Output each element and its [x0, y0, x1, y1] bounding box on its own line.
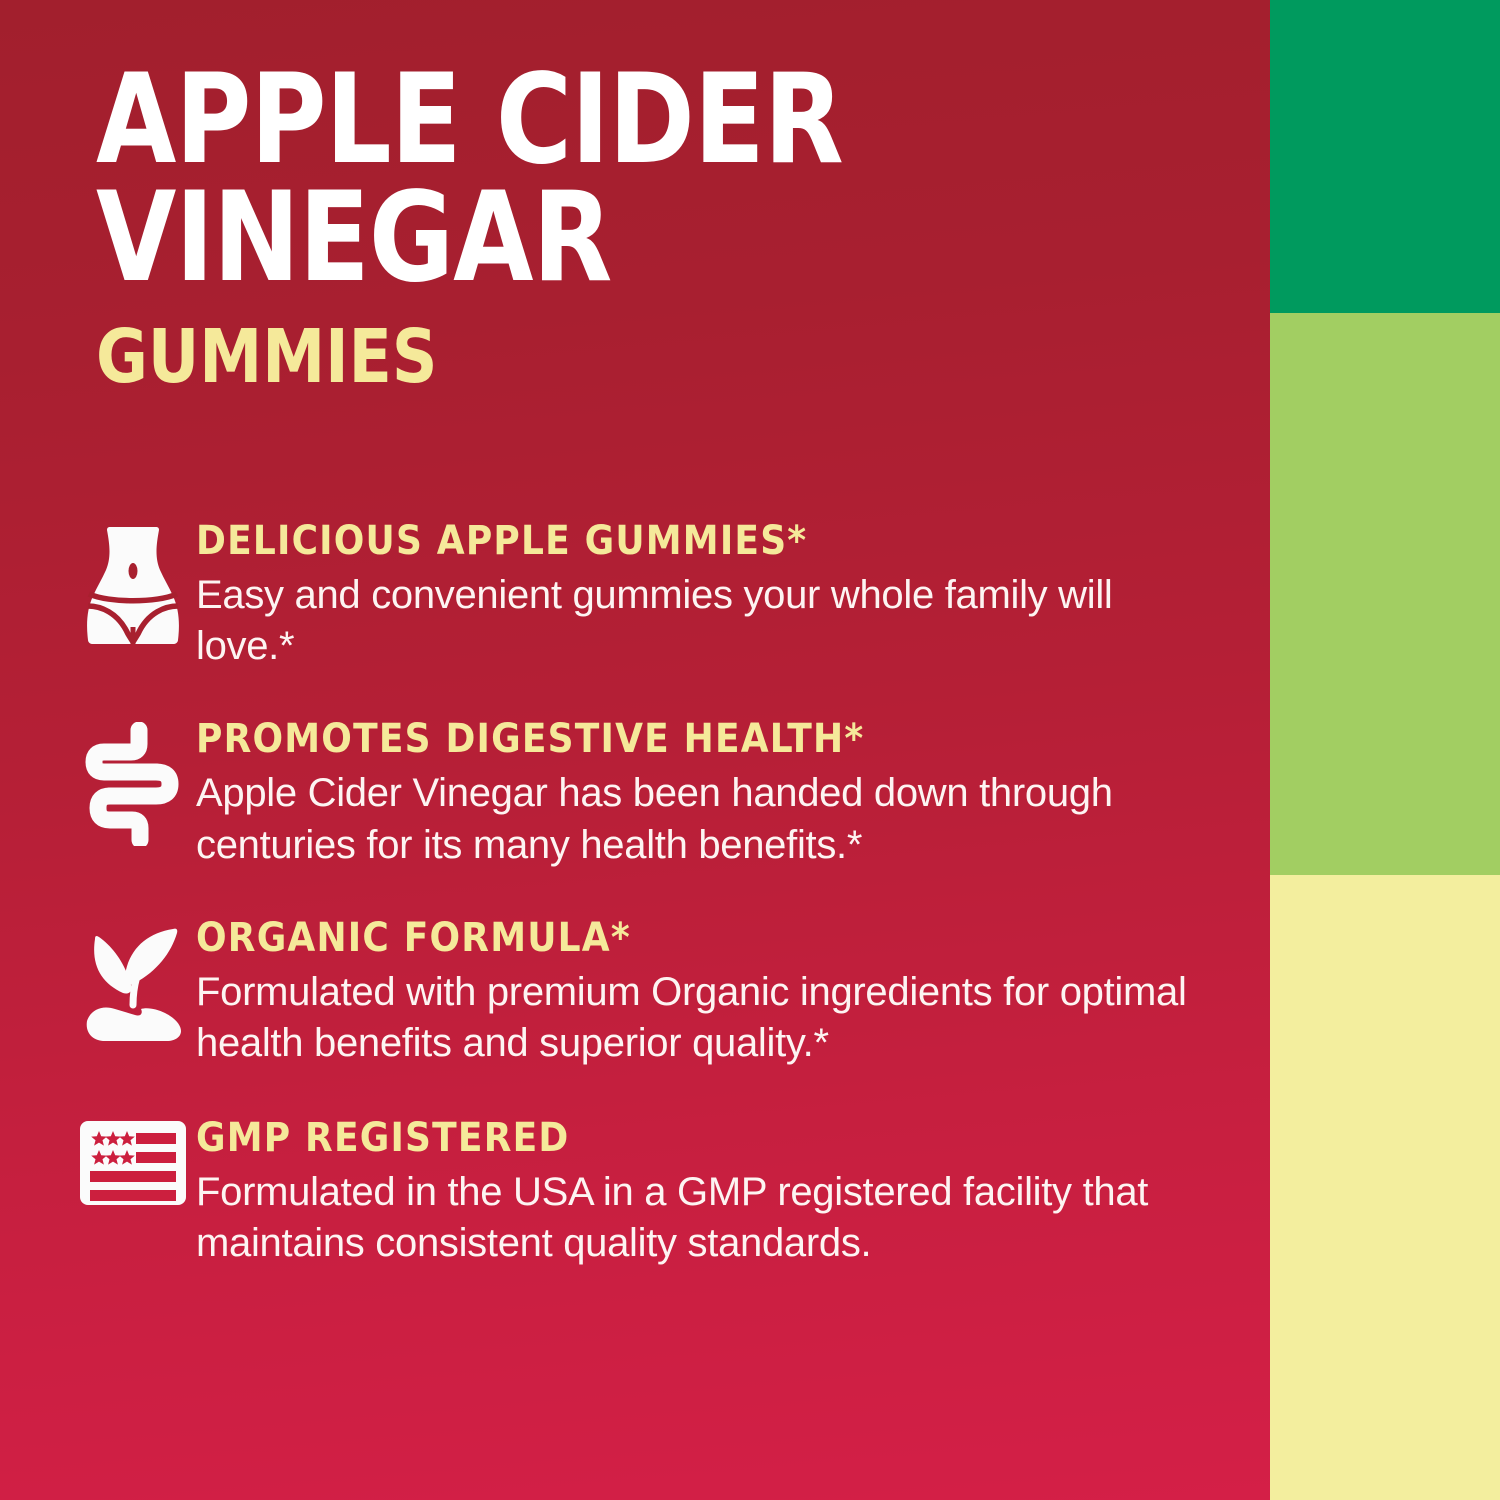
product-subtitle: GUMMIES	[96, 320, 1141, 394]
cream-band	[1270, 875, 1500, 1500]
feature-title: GMP REGISTERED	[196, 1117, 1238, 1159]
product-infographic: APPLE CIDER VINEGAR GUMMIES DELICIOUS AP…	[0, 0, 1500, 1500]
feature-item: PROMOTES DIGESTIVE HEALTH* Apple Cider V…	[78, 718, 1238, 870]
feature-title: DELICIOUS APPLE GUMMIES*	[196, 520, 1238, 562]
green-band	[1270, 0, 1500, 313]
feature-title: ORGANIC FORMULA*	[196, 917, 1238, 959]
product-title-line-2: VINEGAR	[96, 180, 1119, 298]
feature-list: DELICIOUS APPLE GUMMIES* Easy and conven…	[78, 520, 1238, 1270]
feature-text: Formulated in the USA in a GMP registere…	[196, 1167, 1206, 1269]
product-title-line-1: APPLE CIDER	[96, 62, 1119, 180]
feature-text: Apple Cider Vinegar has been handed down…	[196, 768, 1206, 870]
feature-body: PROMOTES DIGESTIVE HEALTH* Apple Cider V…	[188, 718, 1238, 870]
color-stripe	[1270, 0, 1500, 1500]
leaf-in-hand-icon	[78, 917, 188, 1041]
slim-waist-torso-icon	[78, 520, 188, 644]
feature-item: ORGANIC FORMULA* Formulated with premium…	[78, 917, 1238, 1069]
usa-flag-icon	[78, 1117, 188, 1241]
lime-band	[1270, 313, 1500, 875]
intestine-icon	[78, 718, 188, 842]
product-title-block: APPLE CIDER VINEGAR GUMMIES	[96, 62, 1196, 394]
feature-item: GMP REGISTERED Formulated in the USA in …	[78, 1117, 1238, 1269]
feature-text: Formulated with premium Organic ingredie…	[196, 967, 1206, 1069]
feature-body: ORGANIC FORMULA* Formulated with premium…	[188, 917, 1238, 1069]
feature-body: DELICIOUS APPLE GUMMIES* Easy and conven…	[188, 520, 1238, 672]
feature-text: Easy and convenient gummies your whole f…	[196, 570, 1206, 672]
feature-item: DELICIOUS APPLE GUMMIES* Easy and conven…	[78, 520, 1238, 672]
feature-body: GMP REGISTERED Formulated in the USA in …	[188, 1117, 1238, 1269]
feature-title: PROMOTES DIGESTIVE HEALTH*	[196, 718, 1238, 760]
